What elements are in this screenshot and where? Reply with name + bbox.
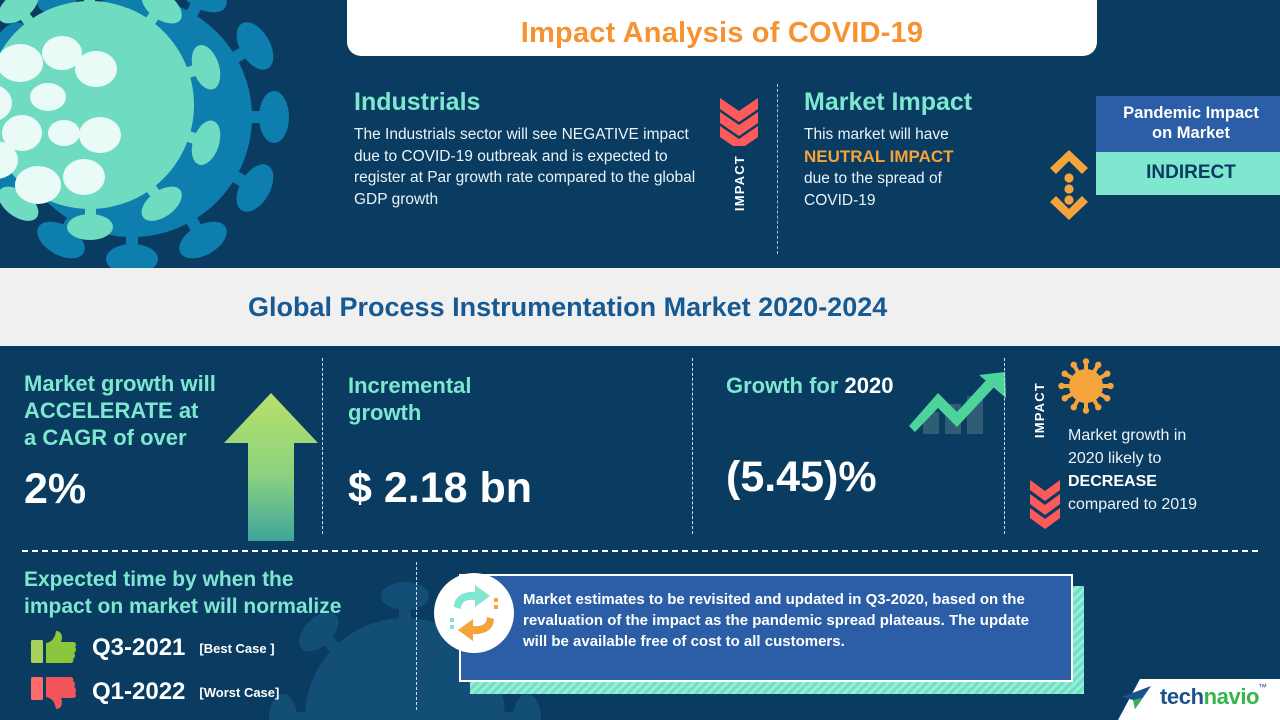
metric-growth-label-prefix: Growth for [726,373,845,398]
pandemic-impact-badge: Pandemic Impact on Market INDIRECT [1096,96,1280,195]
logo-text-part2: navio [1204,684,1259,709]
sector-block: Industrials The Industrials sector will … [354,88,714,210]
thumbs-down-icon [30,674,78,710]
title-card: Impact Analysis of COVID-19 [347,0,1097,56]
case-label: [Worst Case] [199,685,279,700]
market-impact-line3: COVID-19 [804,192,876,209]
badge-header-line2: on Market [1152,124,1230,142]
refresh-icon [432,571,516,655]
vertical-divider [1004,358,1005,534]
metric-incremental-label: Incremental growth [348,372,668,426]
impact-vertical-label: IMPACT [732,155,747,211]
list-item: Q3-2021 [Best Case ] [30,630,275,666]
neutral-updown-icon [1046,148,1092,222]
badge-value: INDIRECT [1096,152,1280,195]
list-item: Q1-2022 [Worst Case] [30,674,279,710]
metric-incremental-label-line2: growth [348,400,421,425]
chevron-down-triple-icon [716,96,762,146]
market-impact-line1: This market will have [804,126,949,143]
metric-growth-label-year: 2020 [845,373,894,398]
impact-2020-line1: Market growth in [1068,427,1186,444]
badge-header: Pandemic Impact on Market [1096,96,1280,152]
logo-text-part1: tech [1160,684,1204,709]
normalize-heading-line1: Expected time by when the [24,568,294,591]
page-title: Impact Analysis of COVID-19 [521,17,923,50]
sector-body: The Industrials sector will see NEGATIVE… [354,124,714,210]
virus-decoration-icon [0,0,305,290]
infographic-canvas: Impact Analysis of COVID-19 Industrials … [0,0,1280,720]
metric-incremental-label-line1: Incremental [348,373,472,398]
impact-vertical-label-2: IMPACT [1032,382,1047,438]
market-impact-heading: Market Impact [804,88,1084,117]
market-impact-line2: due to the spread of [804,170,942,187]
case-quarter: Q3-2021 [92,634,185,662]
metric-cagr-label-line1: Market growth will [24,371,216,396]
impact-2020-line3: compared to 2019 [1068,496,1197,513]
market-impact-body: This market will have NEUTRAL IMPACT due… [804,124,1084,211]
metric-cagr-label-line3: a CAGR of over [24,425,187,450]
vertical-divider [777,84,778,254]
market-impact-highlight: NEUTRAL IMPACT [804,147,954,166]
metric-incremental: Incremental growth $ 2.18 bn [348,346,668,547]
impact-2020-text: Market growth in 2020 likely to DECREASE… [1068,424,1273,516]
normalize-heading: Expected time by when the impact on mark… [24,566,424,620]
metric-growth-value: (5.45)% [726,453,1016,502]
metric-incremental-value: $ 2.18 bn [348,464,668,513]
vertical-divider [416,562,417,710]
case-label: [Best Case ] [199,641,274,656]
metric-growth-2020: Growth for 2020 (5.45)% [726,346,1016,547]
badge-header-line1: Pandemic Impact [1123,104,1259,122]
report-title-bar: Global Process Instrumentation Market 20… [0,268,1280,346]
impact-2020-line2: 2020 likely to [1068,450,1161,467]
logo-text: technavio [1160,684,1259,710]
note-text: Market estimates to be revisited and upd… [523,589,1053,652]
vertical-divider [692,358,693,534]
chevron-down-triple-icon [1028,478,1062,534]
thumbs-up-icon [30,630,78,666]
metric-cagr-label-line2: ACCELERATE at [24,398,198,423]
market-impact-block: Market Impact This market will have NEUT… [804,88,1084,211]
normalize-heading-line2: impact on market will normalize [24,595,341,618]
note-box: Market estimates to be revisited and upd… [459,574,1073,682]
impact-indicator-sector: IMPACT [716,96,762,211]
virus-orange-icon [1058,358,1114,414]
sector-heading: Industrials [354,88,714,117]
technavio-mark-icon [1122,686,1152,710]
vertical-divider [322,358,323,534]
impact-2020-indicator: IMPACT [1022,378,1056,438]
logo-trademark: ™ [1258,682,1267,692]
metric-growth-label: Growth for 2020 [726,372,1016,399]
arrow-up-icon [224,393,318,541]
case-quarter: Q1-2022 [92,678,185,706]
report-title: Global Process Instrumentation Market 20… [248,292,887,323]
impact-2020-emphasis: DECREASE [1068,473,1157,490]
